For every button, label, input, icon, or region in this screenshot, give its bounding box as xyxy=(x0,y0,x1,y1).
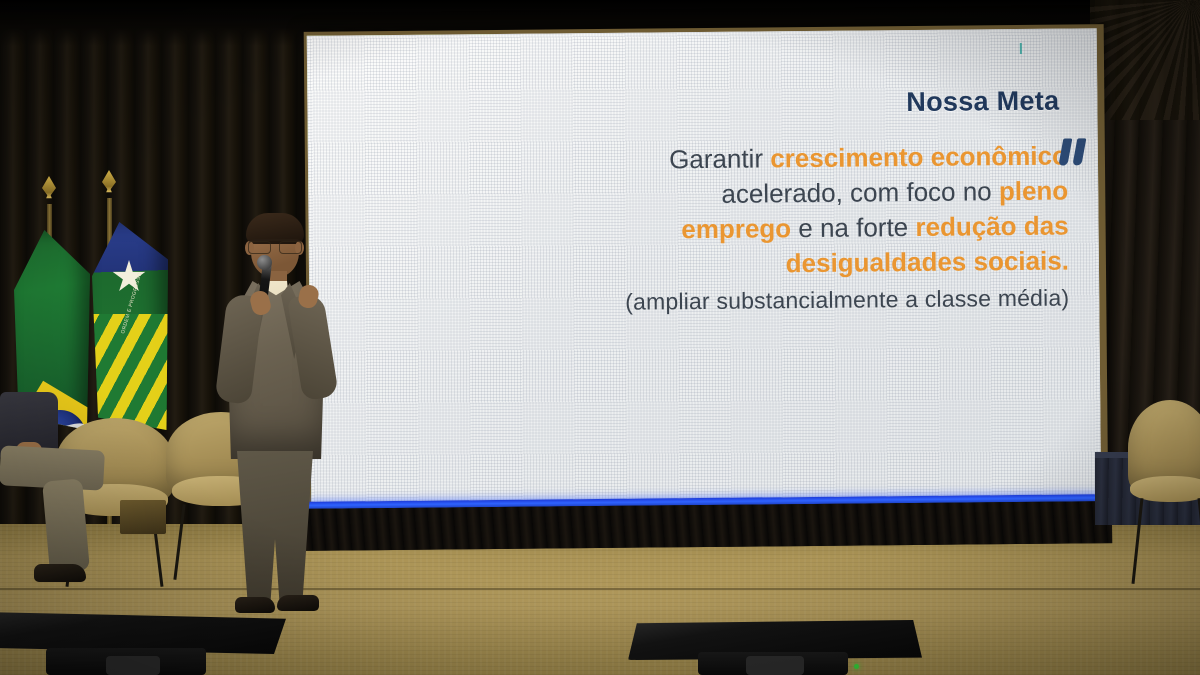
slide-subnote: (ampliar substancialmente a classe média… xyxy=(489,280,1069,321)
slide-body: Garantir crescimento econômico acelerado… xyxy=(488,139,1070,322)
monitor-stand xyxy=(746,656,804,675)
teal-marker-icon xyxy=(1020,43,1022,54)
guest-shin xyxy=(42,478,90,573)
line4-part1: desigualdades sociais. xyxy=(786,245,1070,278)
projection-screen: Nossa Meta Garantir crescimento econômic… xyxy=(307,28,1102,514)
confidence-monitor-right xyxy=(628,620,922,675)
stage-chair-3 xyxy=(1128,400,1200,580)
slide-line-1: Garantir crescimento econômico xyxy=(488,139,1068,180)
line3-part2: e na forte xyxy=(791,212,916,243)
line1-part1: Garantir xyxy=(669,143,770,174)
line2-part2: pleno xyxy=(999,176,1069,207)
guest-shoe xyxy=(34,564,86,582)
confidence-monitor-left xyxy=(0,612,286,675)
line3-part3: redução das xyxy=(915,210,1068,241)
chair-leg xyxy=(173,504,185,580)
power-led-icon xyxy=(854,664,859,669)
speaker-shoe-right xyxy=(277,595,319,611)
speaker-trousers xyxy=(237,451,313,603)
microphone-head xyxy=(257,255,272,270)
slide-line-4: desigualdades sociais. xyxy=(489,243,1069,284)
slide-line-3: emprego e na forte redução das xyxy=(488,208,1068,249)
chair-leg xyxy=(1132,498,1144,584)
stage-skirt xyxy=(300,501,1112,551)
curtain-fan-pleats xyxy=(1090,0,1200,120)
quotation-mark-icon xyxy=(1061,138,1084,165)
monitor-stand xyxy=(106,656,160,675)
speaker-shoe-left xyxy=(235,597,275,613)
stage-photo: Nossa Meta Garantir crescimento econômic… xyxy=(0,0,1200,675)
line2-part1: acelerado, com foco no xyxy=(721,176,999,209)
speaker-glasses xyxy=(248,239,302,252)
speaker xyxy=(215,213,335,625)
line1-part2: crescimento econômico xyxy=(770,141,1068,174)
seated-guest xyxy=(0,392,110,602)
side-table xyxy=(120,500,166,534)
slide-line-2: acelerado, com foco no pleno xyxy=(488,174,1068,215)
line3-part1: emprego xyxy=(681,213,791,244)
slide-heading: Nossa Meta xyxy=(906,86,1059,118)
slide-content: Nossa Meta Garantir crescimento econômic… xyxy=(307,28,1102,514)
